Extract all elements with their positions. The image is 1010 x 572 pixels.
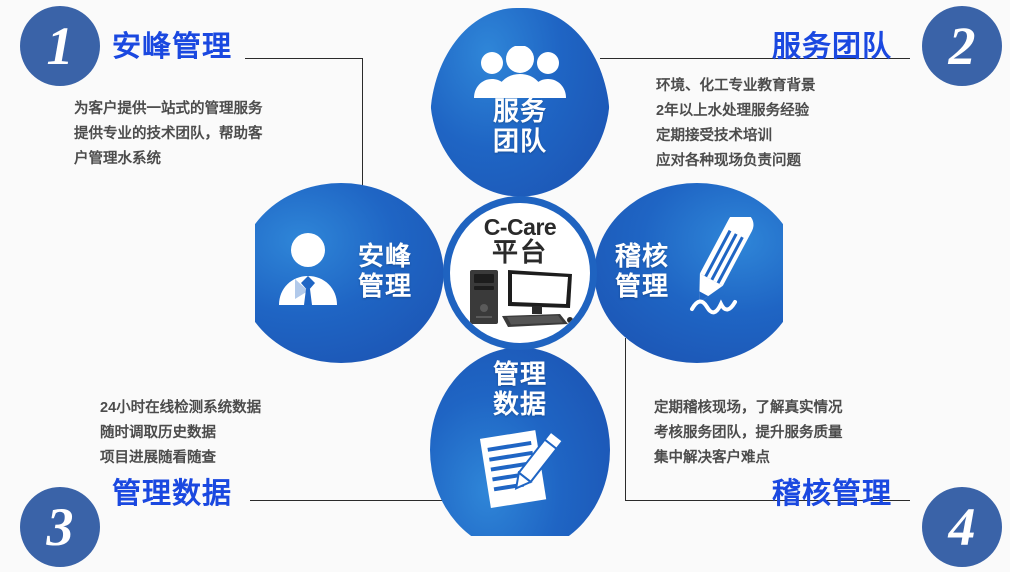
petal-audit-management-label: 稽核 管理: [600, 241, 684, 301]
center-hub[interactable]: C-Care 平台: [450, 203, 590, 343]
step-badge-1: 1: [20, 6, 100, 86]
quadrant-title-4: 稽核管理: [772, 470, 892, 512]
petal-diagram: 服务 团队 管理 数据: [255, 8, 785, 536]
quadrant-body-1-line: 提供专业的技术团队，帮助客: [74, 122, 263, 147]
quadrant-body-3-line: 项目进展随看随查: [100, 446, 261, 471]
petal-anfeng-management-label: 安峰 管理: [343, 241, 427, 301]
petal-management-data-label: 管理 数据: [430, 359, 610, 419]
quadrant-body-1-line: 户管理水系统: [74, 147, 263, 172]
step-badge-4-number: 4: [949, 500, 976, 554]
step-badge-3: 3: [20, 487, 100, 567]
quadrant-title-3: 管理数据: [112, 470, 232, 512]
quadrant-body-1-line: 为客户提供一站式的管理服务: [74, 97, 263, 122]
infographic-canvas: 1 2 3 4 安峰管理 服务团队 管理数据 稽核管理 为客户提供一站式的管理服…: [0, 0, 1010, 572]
step-badge-3-number: 3: [47, 500, 74, 554]
hub-brand-cn: 平台: [492, 239, 548, 266]
step-badge-1-number: 1: [47, 19, 74, 73]
quadrant-title-2: 服务团队: [772, 23, 892, 65]
hub-brand-en: C-Care: [484, 216, 556, 239]
desktop-computer-icon: [464, 268, 576, 330]
step-badge-2-number: 2: [949, 19, 976, 73]
quadrant-title-1: 安峰管理: [112, 23, 232, 65]
step-badge-4: 4: [922, 487, 1002, 567]
quadrant-body-3-line: 24小时在线检测系统数据: [100, 396, 261, 421]
quadrant-body-1: 为客户提供一站式的管理服务 提供专业的技术团队，帮助客 户管理水系统: [74, 97, 263, 172]
petal-anfeng-management[interactable]: 安峰 管理: [255, 183, 460, 363]
petal-service-team-label: 服务 团队: [430, 96, 610, 156]
quadrant-body-3: 24小时在线检测系统数据 随时调取历史数据 项目进展随看随查: [100, 396, 261, 471]
quadrant-body-3-line: 随时调取历史数据: [100, 421, 261, 446]
step-badge-2: 2: [922, 6, 1002, 86]
petal-audit-management[interactable]: 稽核 管理: [578, 183, 783, 363]
